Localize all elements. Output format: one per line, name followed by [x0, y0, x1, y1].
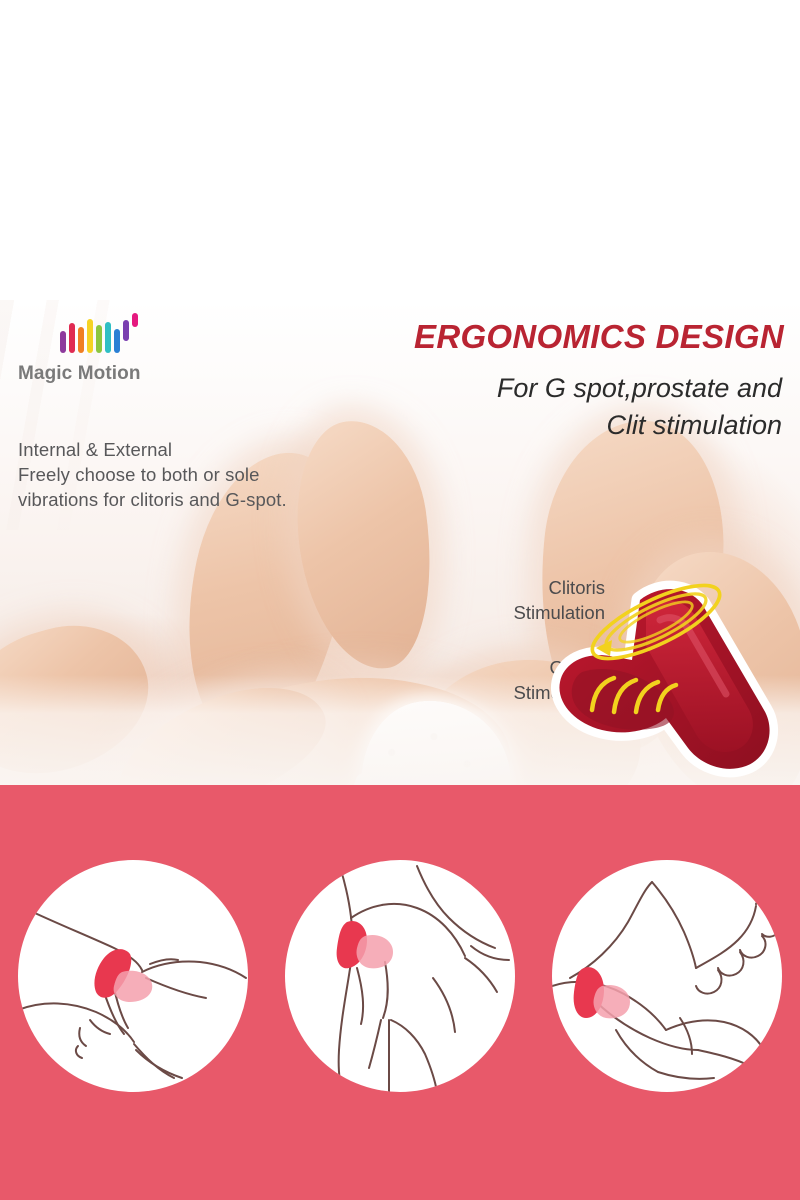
equalizer-bars-logo-icon — [18, 305, 258, 353]
page-subtitle-line-2: Clit stimulation — [497, 407, 782, 444]
product-illustration — [548, 560, 800, 785]
brand-logo: Magic Motion — [18, 305, 258, 385]
usage-product-soft-shape — [114, 971, 153, 1002]
product-marketing-page: Magic Motion Internal & External Freely … — [0, 0, 800, 1200]
usage-illustration-reclining-figure-icon — [552, 860, 782, 1092]
page-title: ERGONOMICS DESIGN — [414, 318, 784, 356]
brand-name: Magic Motion — [18, 363, 258, 385]
usage-illustration-side-hip-icon — [285, 860, 515, 1092]
top-white-space — [0, 0, 800, 300]
page-subtitle: For G spot,prostate and Clit stimulation — [497, 370, 782, 444]
usage-product-soft-shape — [594, 985, 631, 1018]
usage-illustration-front-insertion-icon — [18, 860, 248, 1092]
feature-line-1: Internal & External — [18, 437, 368, 462]
usage-circle-2 — [285, 860, 515, 1092]
feature-copy: Internal & External Freely choose to bot… — [18, 437, 368, 512]
feature-line-3: vibrations for clitoris and G-spot. — [18, 487, 368, 512]
feature-line-2: Freely choose to both or sole — [18, 462, 368, 487]
v-shaped-vibrator-illustration-icon — [548, 560, 800, 785]
usage-circle-3 — [552, 860, 782, 1092]
page-subtitle-line-1: For G spot,prostate and — [497, 370, 782, 407]
usage-circle-1 — [18, 860, 248, 1092]
usage-illustration-row — [0, 860, 800, 1100]
usage-product-soft-shape — [357, 935, 394, 968]
